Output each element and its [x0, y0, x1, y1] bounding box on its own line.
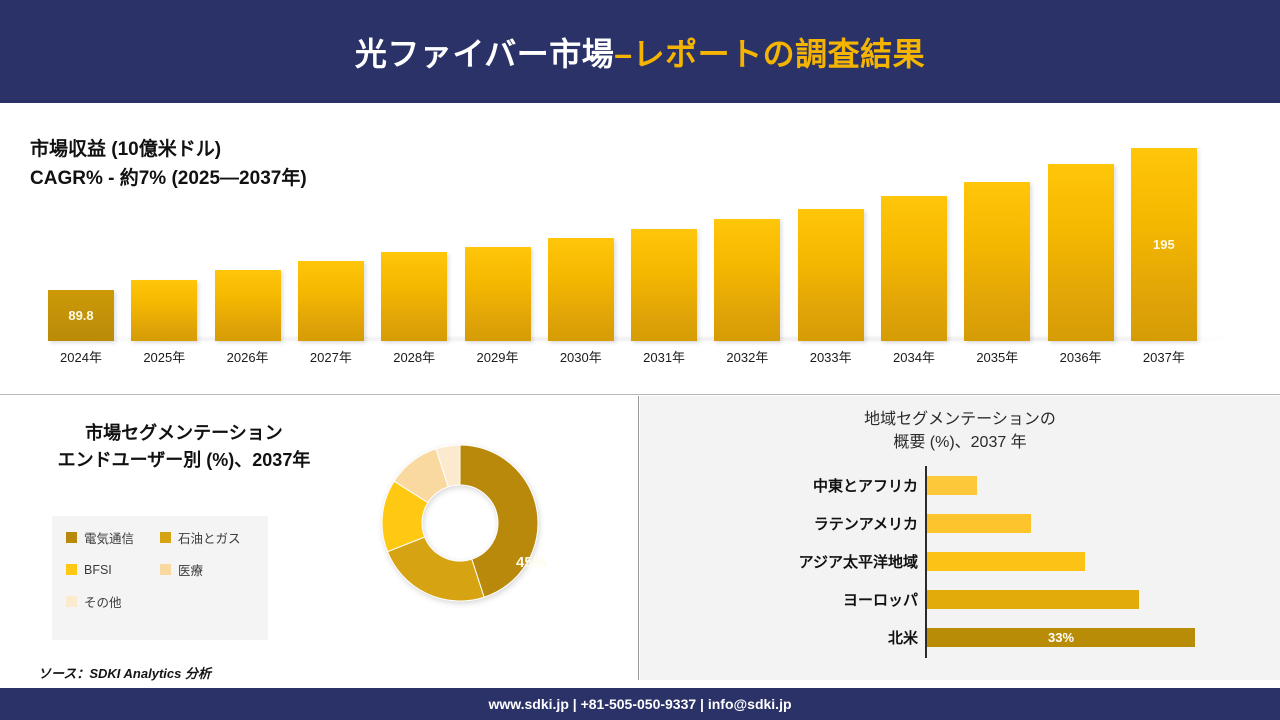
donut-legend-label: 石油とガス [178, 528, 241, 547]
region-bar-label: 北米 [670, 627, 918, 648]
donut-legend-item-石油とガス[interactable]: 石油とガス [160, 528, 254, 547]
revenue-bar-rect [881, 196, 947, 341]
region-title-line-2: 概要 (%)、2037 年 [640, 431, 1280, 454]
revenue-bar-rect [381, 252, 447, 341]
donut-legend-item-医療[interactable]: 医療 [160, 560, 254, 579]
region-bar-rect [927, 552, 1085, 571]
region-bar-label: ラテンアメリカ [670, 513, 918, 534]
region-bar-rect: 33% [927, 628, 1195, 647]
revenue-bar-x-label: 2025年 [118, 347, 210, 366]
legend-swatch-icon [160, 532, 171, 543]
page-footer: www.sdki.jp | +81-505-050-9337 | info@sd… [0, 688, 1280, 720]
revenue-bar-2024年[interactable]: 89.8 [48, 290, 114, 341]
region-row-北米[interactable]: 北米33% [640, 618, 1280, 656]
page-title-main: 光ファイバー市場 [355, 36, 614, 72]
donut-title-line-1: 市場セグメンテーション [24, 420, 344, 447]
revenue-bar-x-label: 2032年 [701, 347, 793, 366]
revenue-bar-2030年[interactable] [548, 238, 614, 341]
revenue-bar-chart-panel: 市場収益 (10億米ドル) CAGR% - 約7% (2025—2037年) 8… [0, 103, 1280, 395]
revenue-bar-rect [714, 219, 780, 341]
revenue-bar-plot: 89.82024年2025年2026年2027年2028年2029年2030年2… [40, 123, 1240, 378]
revenue-bar-2031年[interactable] [631, 229, 697, 341]
revenue-bar-x-label: 2037年 [1118, 347, 1210, 366]
region-bar-plot: 中東とアフリカラテンアメリカアジア太平洋地域ヨーロッパ北米33% [640, 464, 1280, 664]
infographic-page: 光ファイバー市場–レポートの調査結果 市場収益 (10億米ドル) CAGR% -… [0, 0, 1280, 720]
donut-legend-label: 電気通信 [84, 528, 134, 547]
region-row-アジア太平洋地域[interactable]: アジア太平洋地域 [640, 542, 1280, 580]
page-title-accent: –レポートの調査結果 [614, 36, 925, 72]
donut-legend-row: 電気通信石油とガス [66, 528, 254, 547]
legend-swatch-icon [66, 596, 77, 607]
revenue-bar-rect [964, 182, 1030, 341]
revenue-bar-rect [465, 247, 531, 341]
revenue-bar-rect [548, 238, 614, 341]
region-bar-rect [927, 514, 1031, 533]
regional-bar-chart-panel: 地域セグメンテーションの 概要 (%)、2037 年 中東とアフリカラテンアメリ… [640, 396, 1280, 680]
revenue-bar-x-label: 2034年 [868, 347, 960, 366]
revenue-bar-rect [215, 270, 281, 341]
revenue-bar-x-label: 2026年 [202, 347, 294, 366]
revenue-bar-2028年[interactable] [381, 252, 447, 341]
donut-legend-label: その他 [84, 592, 122, 611]
region-bar-rect [927, 476, 977, 495]
region-bar-label: アジア太平洋地域 [670, 551, 918, 572]
donut-legend-item-電気通信[interactable]: 電気通信 [66, 528, 160, 547]
revenue-bar-2037年[interactable]: 195 [1131, 148, 1197, 341]
donut-chart-title: 市場セグメンテーション エンドユーザー別 (%)、2037年 [24, 420, 344, 474]
donut-legend-item-BFSI[interactable]: BFSI [66, 560, 160, 579]
revenue-bar-2032年[interactable] [714, 219, 780, 341]
revenue-bar-rect [298, 261, 364, 341]
legend-swatch-icon [66, 564, 77, 575]
revenue-bar-2036年[interactable] [1048, 164, 1114, 341]
region-bar-rect [927, 590, 1139, 609]
region-row-ヨーロッパ[interactable]: ヨーロッパ [640, 580, 1280, 618]
footer-contact-text: www.sdki.jp | +81-505-050-9337 | info@sd… [488, 696, 791, 712]
donut-legend-row: BFSI医療 [66, 560, 254, 579]
region-bar-value-label: 33% [1048, 630, 1074, 645]
revenue-bar-x-label: 2030年 [535, 347, 627, 366]
revenue-bar-2035年[interactable] [964, 182, 1030, 341]
revenue-bar-2029年[interactable] [465, 247, 531, 341]
revenue-bar-x-label: 2028年 [368, 347, 460, 366]
revenue-bar-x-label: 2031年 [618, 347, 710, 366]
revenue-bar-rect [131, 280, 197, 341]
donut-chart-svg [380, 443, 540, 603]
region-bar-label: 中東とアフリカ [670, 475, 918, 496]
page-header: 光ファイバー市場–レポートの調査結果 [0, 0, 1280, 103]
donut-title-line-2: エンドユーザー別 (%)、2037年 [24, 447, 344, 474]
revenue-bar-2027年[interactable] [298, 261, 364, 341]
revenue-bar-value-label: 195 [1131, 237, 1197, 252]
donut-legend: 電気通信石油とガスBFSI医療その他 [52, 516, 268, 640]
revenue-bar-rect [1048, 164, 1114, 341]
revenue-bar-x-label: 2027年 [285, 347, 377, 366]
revenue-bar-2025年[interactable] [131, 280, 197, 341]
revenue-bar-rect: 195 [1131, 148, 1197, 341]
donut-chart [380, 443, 540, 603]
donut-slice-石油とガス[interactable] [387, 537, 484, 601]
revenue-bar-2033年[interactable] [798, 209, 864, 341]
donut-legend-label: BFSI [84, 563, 112, 577]
revenue-bar-value-label: 89.8 [48, 308, 114, 323]
donut-legend-label: 医療 [178, 560, 203, 579]
region-row-中東とアフリカ[interactable]: 中東とアフリカ [640, 466, 1280, 504]
source-note: ソース：SDKI Analytics 分析 [38, 663, 211, 682]
region-bar-label: ヨーロッパ [670, 589, 918, 610]
revenue-bar-rect [798, 209, 864, 341]
revenue-bar-2034年[interactable] [881, 196, 947, 341]
donut-largest-slice-value: 45% [516, 554, 546, 571]
region-chart-title: 地域セグメンテーションの 概要 (%)、2037 年 [640, 408, 1280, 454]
revenue-bar-x-label: 2024年 [35, 347, 127, 366]
revenue-bar-rect [631, 229, 697, 341]
region-row-ラテンアメリカ[interactable]: ラテンアメリカ [640, 504, 1280, 542]
region-title-line-1: 地域セグメンテーションの [640, 408, 1280, 431]
donut-legend-row: その他 [66, 592, 254, 611]
legend-swatch-icon [66, 532, 77, 543]
donut-legend-item-その他[interactable]: その他 [66, 592, 170, 611]
revenue-bar-2026年[interactable] [215, 270, 281, 341]
revenue-bar-x-label: 2029年 [452, 347, 544, 366]
revenue-bar-x-label: 2036年 [1035, 347, 1127, 366]
page-title: 光ファイバー市場–レポートの調査結果 [355, 29, 925, 75]
revenue-bar-x-label: 2033年 [785, 347, 877, 366]
legend-swatch-icon [160, 564, 171, 575]
revenue-bar-rect: 89.8 [48, 290, 114, 341]
revenue-bar-x-label: 2035年 [951, 347, 1043, 366]
